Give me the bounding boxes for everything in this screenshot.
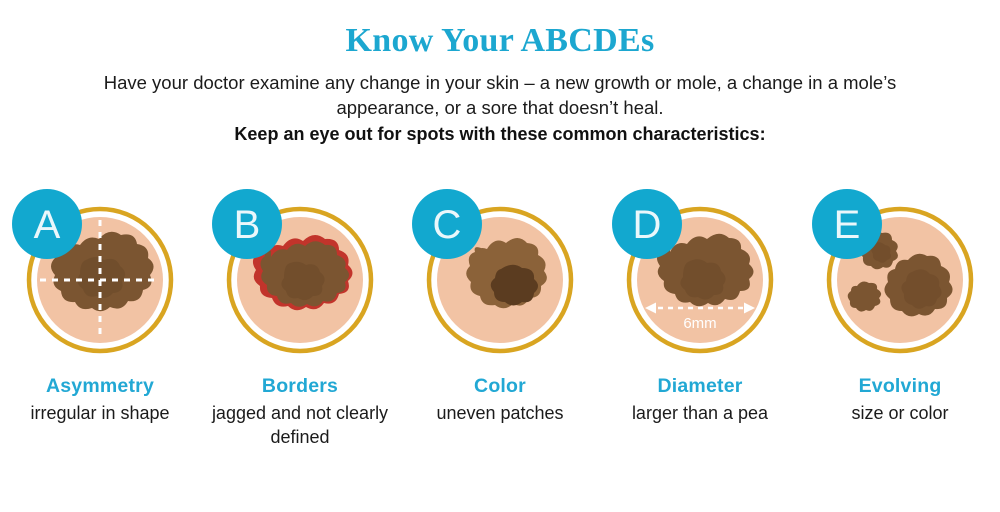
abcde-item-b: B Borders jagged and not clearly defined <box>200 186 400 486</box>
badge-letter-e: E <box>834 203 861 247</box>
caption-title: Diameter <box>600 374 800 398</box>
caption-evolving: Evolving size or color <box>800 374 1000 425</box>
page-title: Know Your ABCDEs <box>0 22 1000 60</box>
badge-d: D <box>612 189 682 259</box>
abcde-item-e: E Evolving size or color <box>800 186 1000 486</box>
infographic-page: Know Your ABCDEs Have your doctor examin… <box>0 0 1000 512</box>
badge-letter-c: C <box>433 203 462 247</box>
abcde-item-c: C Color uneven patches <box>400 186 600 486</box>
caption-title: Evolving <box>800 374 1000 398</box>
caption-title: Borders <box>200 374 400 398</box>
caption-subtitle: larger than a pea <box>600 401 800 425</box>
diameter-label: 6mm <box>683 315 716 332</box>
caption-title: Color <box>400 374 600 398</box>
figure-evolving: E <box>800 186 1000 368</box>
badge-letter-d: D <box>633 203 662 247</box>
badge-letter-b: B <box>234 203 261 247</box>
badge-letter-a: A <box>34 203 61 247</box>
abcde-item-d: 6mm D Diameter larger than a pea <box>600 186 800 486</box>
caption-subtitle: uneven patches <box>400 401 600 425</box>
caption-borders: Borders jagged and not clearly defined <box>200 374 400 449</box>
figure-diameter: 6mm D <box>600 186 800 368</box>
caption-subtitle: irregular in shape <box>0 401 200 425</box>
abcde-columns: A Asymmetry irregular in shape <box>0 186 1000 486</box>
figure-color: C <box>400 186 600 368</box>
caption-title: Asymmetry <box>0 374 200 398</box>
badge-b: B <box>212 189 282 259</box>
badge-a: A <box>12 189 82 259</box>
caption-subtitle: jagged and not clearly defined <box>200 401 400 449</box>
abcde-item-a: A Asymmetry irregular in shape <box>0 186 200 486</box>
caption-color: Color uneven patches <box>400 374 600 425</box>
badge-c: C <box>412 189 482 259</box>
caption-asymmetry: Asymmetry irregular in shape <box>0 374 200 425</box>
caption-subtitle: size or color <box>800 401 1000 425</box>
figure-asymmetry: A <box>0 186 200 368</box>
caption-diameter: Diameter larger than a pea <box>600 374 800 425</box>
subheading: Keep an eye out for spots with these com… <box>0 124 1000 145</box>
badge-e: E <box>812 189 882 259</box>
intro-paragraph: Have your doctor examine any change in y… <box>72 70 928 120</box>
figure-borders: B <box>200 186 400 368</box>
